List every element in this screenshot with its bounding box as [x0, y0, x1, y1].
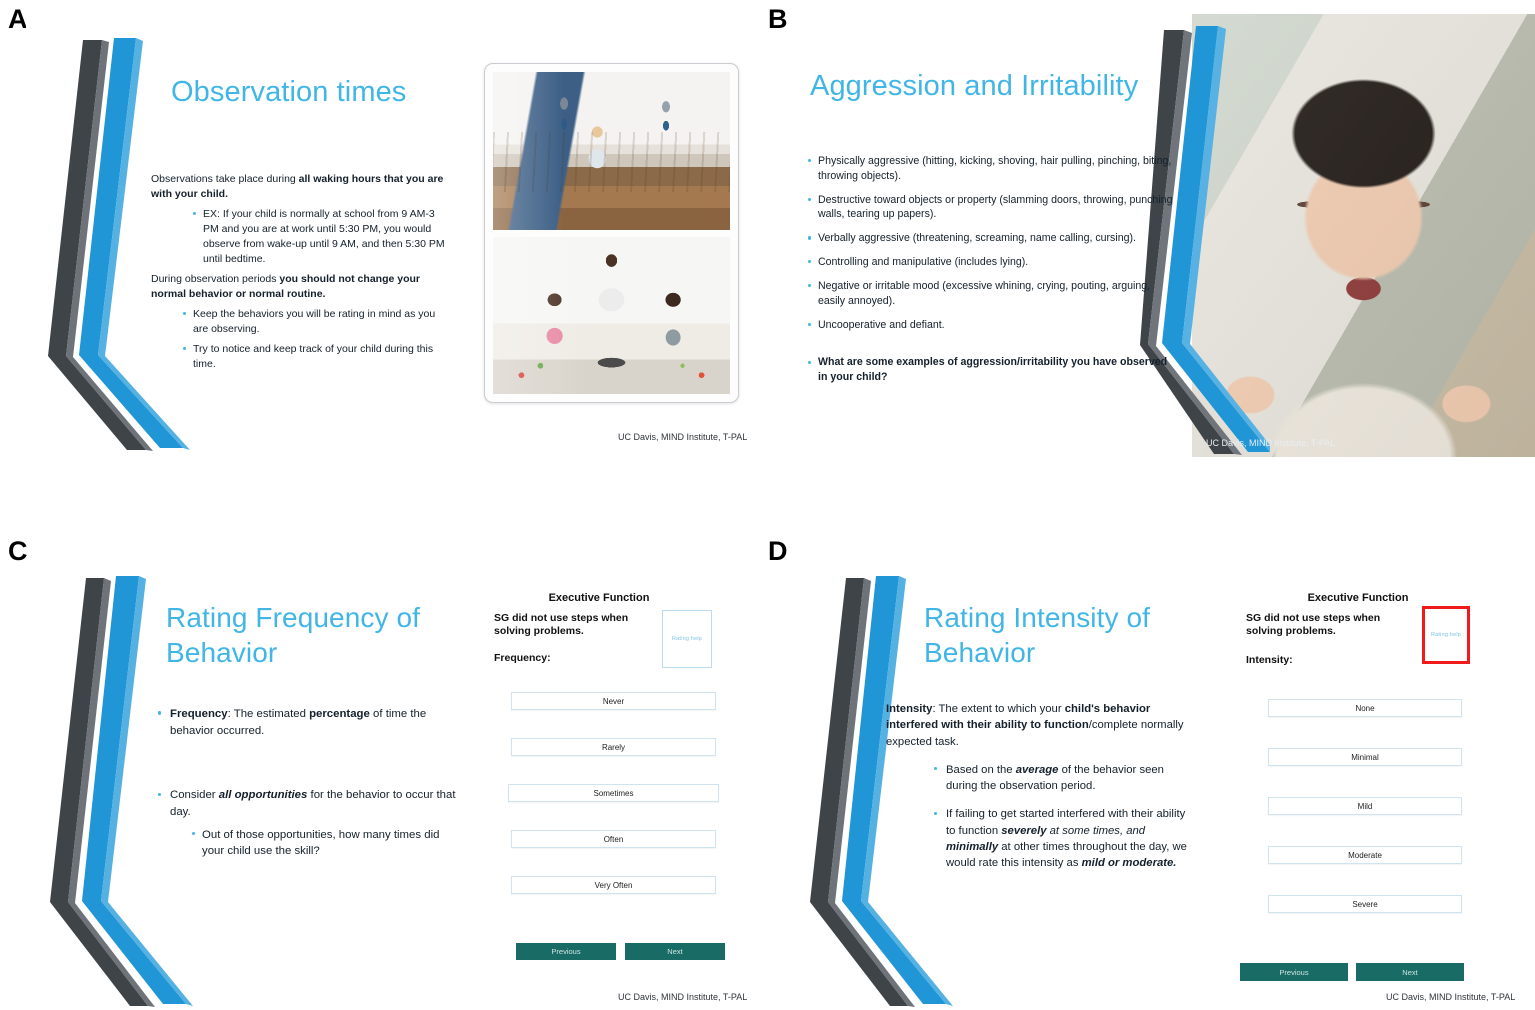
severely-emph: severely: [1001, 825, 1046, 837]
intensity-definition: Intensity: The extent to which your chil…: [886, 701, 1196, 750]
rating-help-button[interactable]: Rating help: [1422, 606, 1470, 664]
photo-children-jumping: [493, 72, 730, 230]
slide-d: Rating Intensity of Behavior Intensity: …: [786, 556, 1535, 1010]
rating-option-moderate[interactable]: Moderate: [1268, 846, 1462, 864]
page-title-b: Aggression and Irritability: [810, 70, 1190, 102]
rating-dimension-label: Intensity:: [1246, 654, 1293, 666]
list-item: Frequency: The estimated percentage of t…: [156, 706, 456, 739]
footer-credit-d: UC Davis, MIND Institute, T-PAL: [1386, 992, 1515, 1002]
panel-label-b: B: [768, 6, 788, 33]
list-item: Out of those opportunities, how many tim…: [190, 827, 456, 860]
frequency-mid: : The estimated: [228, 708, 309, 720]
list-item: Consider all opportunities for the behav…: [156, 787, 456, 860]
paragraph-2-plain: During observation periods: [151, 273, 279, 285]
rating-option-very-often[interactable]: Very Often: [511, 876, 716, 894]
rating-header: Executive Function: [1258, 592, 1458, 604]
average-start: Based on the: [946, 764, 1016, 776]
list-item: Keep the behaviors you will be rating in…: [181, 307, 451, 337]
page-title-c: Rating Frequency of Behavior: [166, 600, 446, 670]
rating-question: SG did not use steps when solving proble…: [494, 612, 634, 639]
average-emph: average: [1016, 764, 1059, 776]
list-item: Uncooperative and defiant.: [806, 318, 1176, 333]
list-item: Controlling and manipulative (includes l…: [806, 255, 1176, 270]
rating-option-often[interactable]: Often: [511, 830, 716, 848]
mild-moderate-emph: mild or moderate.: [1082, 857, 1177, 869]
previous-button[interactable]: Previous: [1240, 963, 1348, 981]
severity-mid-a: at some times, and: [1047, 825, 1146, 837]
list-item: Try to notice and keep track of your chi…: [181, 342, 451, 372]
panel-label-c: C: [8, 538, 28, 565]
frequency-term: Frequency: [170, 708, 228, 720]
rating-question: SG did not use steps when solving proble…: [1246, 612, 1396, 639]
page-title-d: Rating Intensity of Behavior: [924, 600, 1204, 670]
page-title-a: Observation times: [171, 76, 511, 108]
slide-c: Rating Frequency of Behavior Frequency: …: [26, 556, 768, 1010]
list-item: Negative or irritable mood (excessive wh…: [806, 279, 1176, 309]
panel-label-d: D: [768, 538, 788, 565]
bullet-list-d: Based on the average of the behavior see…: [932, 762, 1196, 872]
percentage-term: percentage: [309, 708, 370, 720]
body-text-a: Observations take place during all wakin…: [151, 172, 451, 377]
list-item: Based on the average of the behavior see…: [932, 762, 1196, 795]
footer-credit-c: UC Davis, MIND Institute, T-PAL: [618, 992, 747, 1002]
panel-label-a: A: [8, 6, 28, 33]
photo-family-cooking: [493, 237, 730, 395]
list-item: If failing to get started interfered wit…: [932, 806, 1196, 871]
rating-option-mild[interactable]: Mild: [1268, 797, 1462, 815]
list-item: EX: If your child is normally at school …: [191, 207, 451, 267]
next-button[interactable]: Next: [625, 943, 725, 960]
body-text-b: Physically aggressive (hitting, kicking,…: [806, 154, 1176, 390]
intensity-term: Intensity: [886, 703, 932, 715]
bullet-list-1: EX: If your child is normally at school …: [191, 207, 451, 267]
rating-widget-d: Executive Function SG did not use steps …: [1238, 588, 1508, 998]
bullet-sublist-c: Out of those opportunities, how many tim…: [190, 827, 456, 860]
rating-header: Executive Function: [504, 592, 694, 604]
bullet-list-2: Keep the behaviors you will be rating in…: [181, 307, 451, 372]
body-text-d: Intensity: The extent to which your chil…: [886, 701, 1196, 876]
rating-option-never[interactable]: Never: [511, 692, 716, 710]
minimally-emph: minimally: [946, 841, 998, 853]
rating-widget-c: Executive Function SG did not use steps …: [486, 588, 746, 988]
rating-option-none[interactable]: None: [1268, 699, 1462, 717]
slide-a: Observation times Observations take plac…: [26, 14, 768, 466]
rating-option-minimal[interactable]: Minimal: [1268, 748, 1462, 766]
footer-credit-b: UC Davis, MIND Institute, T-PAL: [1206, 438, 1335, 448]
paragraph-1-plain: Observations take place during: [151, 173, 299, 185]
slide-b: Aggression and Irritability Physically a…: [788, 14, 1535, 457]
photo-card-a: [484, 63, 739, 403]
rating-option-rarely[interactable]: Rarely: [511, 738, 716, 756]
footer-credit-a: UC Davis, MIND Institute, T-PAL: [618, 432, 747, 442]
list-item-question: What are some examples of aggression/irr…: [806, 355, 1176, 385]
previous-button[interactable]: Previous: [516, 943, 616, 960]
rating-option-severe[interactable]: Severe: [1268, 895, 1462, 913]
list-item: Verbally aggressive (threatening, scream…: [806, 231, 1176, 246]
intensity-mid: : The extent to which your: [932, 703, 1064, 715]
bullet-list-b: Physically aggressive (hitting, kicking,…: [806, 154, 1176, 385]
opportunities-emph: all opportunities: [219, 789, 308, 801]
next-button[interactable]: Next: [1356, 963, 1464, 981]
figure-root: A Observation times Observations take pl…: [0, 0, 1535, 1010]
rating-help-button[interactable]: Rating help: [662, 610, 712, 668]
list-item: Destructive toward objects or property (…: [806, 193, 1176, 223]
bullet-list-c: Frequency: The estimated percentage of t…: [156, 706, 456, 860]
rating-dimension-label: Frequency:: [494, 652, 551, 664]
list-item: Physically aggressive (hitting, kicking,…: [806, 154, 1176, 184]
body-text-c: Frequency: The estimated percentage of t…: [156, 706, 456, 865]
opportunities-start: Consider: [170, 789, 219, 801]
paragraph-2: During observation periods you should no…: [151, 272, 451, 302]
rating-option-sometimes[interactable]: Sometimes: [508, 784, 719, 802]
paragraph-1: Observations take place during all wakin…: [151, 172, 451, 202]
photo-crying-child: [1192, 14, 1535, 457]
